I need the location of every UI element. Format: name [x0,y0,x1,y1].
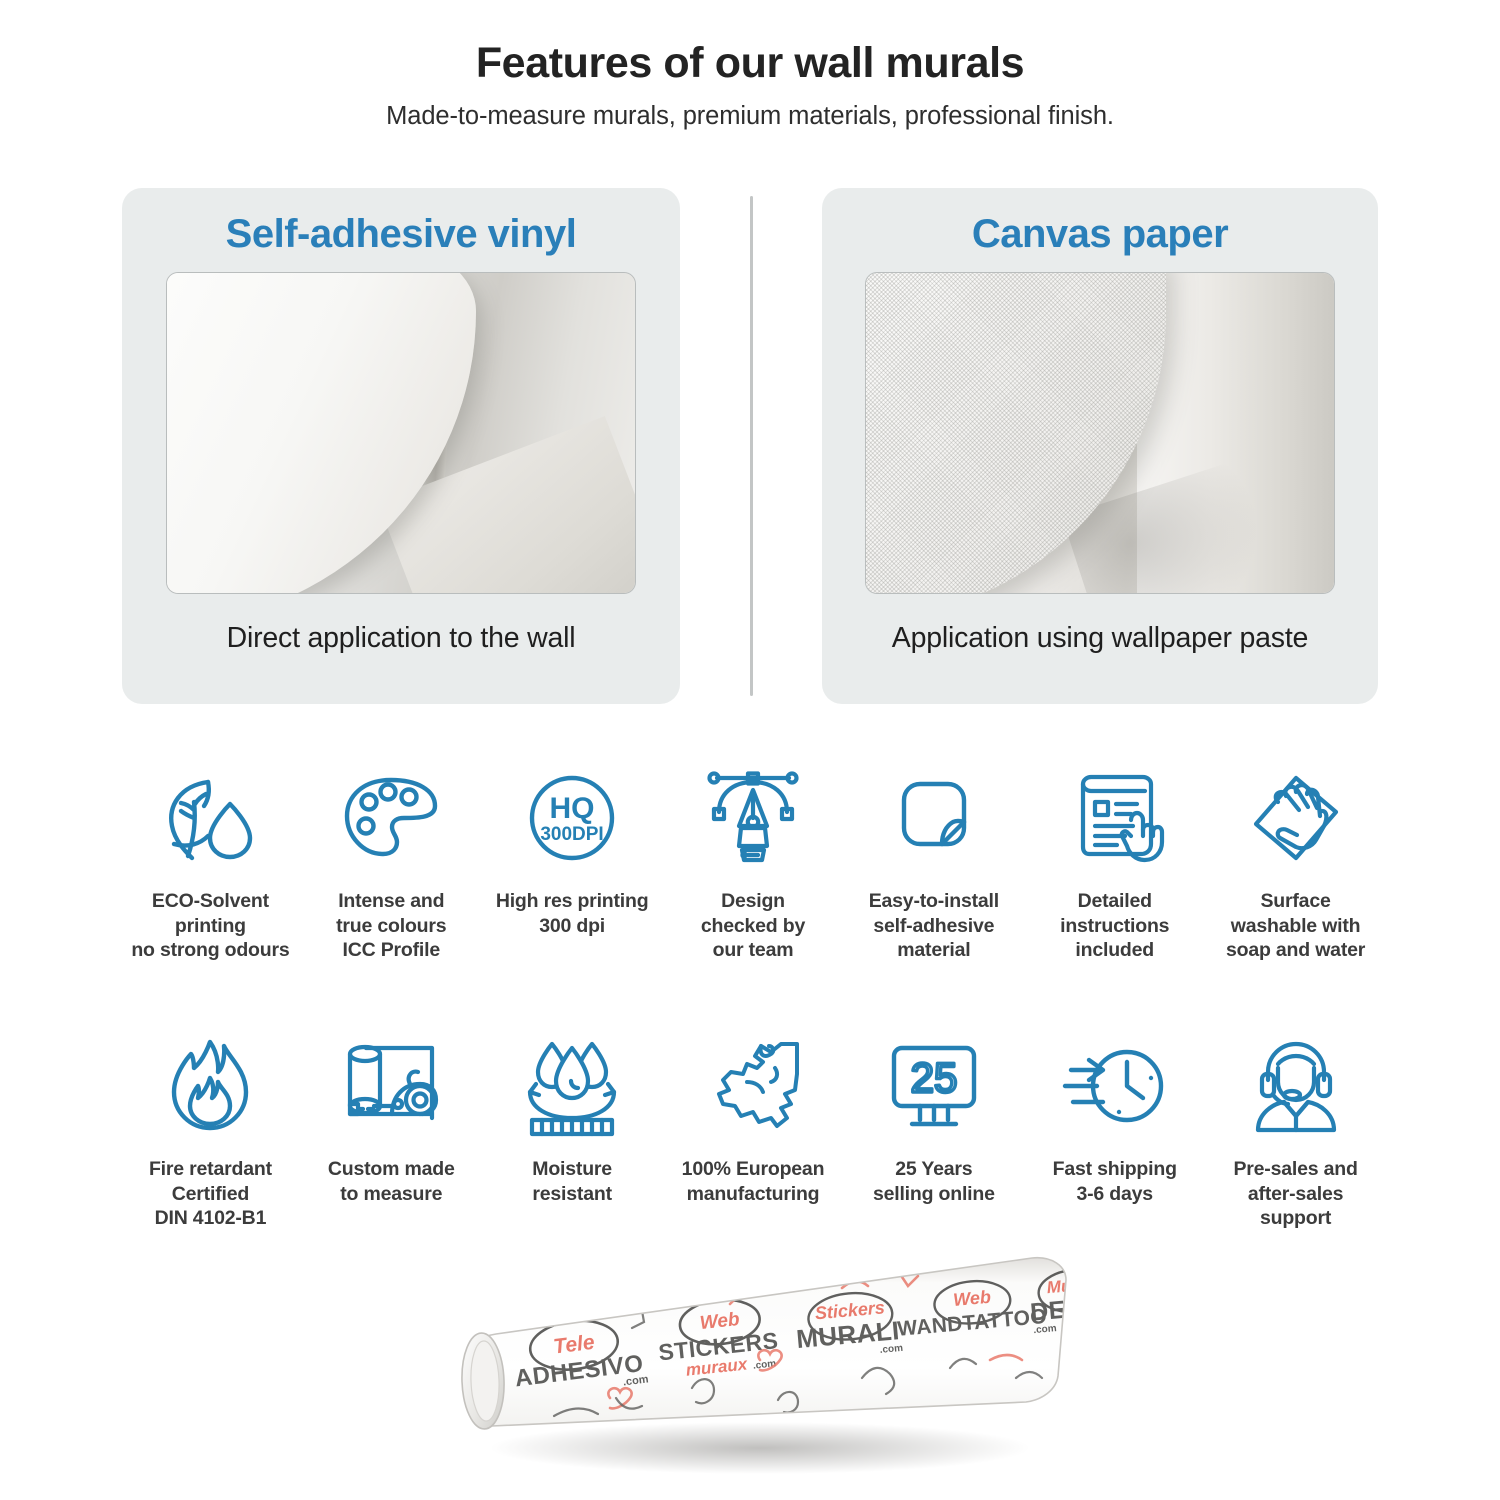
feature-easy-install: Easy-to-install self-adhesive material [843,757,1024,963]
feature-label: 25 Years selling online [873,1157,995,1206]
feature-surface-washable: Surface washable with soap and water [1205,757,1386,963]
card-caption-vinyl: Direct application to the wall [227,620,576,658]
feature-label: Fast shipping 3-6 days [1053,1157,1177,1206]
card-title-canvas: Canvas paper [972,210,1228,258]
feature-label: Easy-to-install self-adhesive material [869,889,999,963]
feature-label: Fire retardant Certified DIN 4102-B1 [149,1157,272,1231]
svg-text:25: 25 [910,1054,957,1101]
product-card-self-adhesive-vinyl[interactable]: Self-adhesive vinyl Direct application t… [122,188,680,704]
feature-european-manufacturing: 100% European manufacturing [663,1025,844,1231]
page-title: Features of our wall murals [0,38,1500,89]
svg-text:300DPI: 300DPI [540,824,603,845]
roll-tape-measure-icon [336,1025,446,1147]
page-subtitle: Made-to-measure murals, premium material… [0,102,1500,131]
feature-grid-row-2: Fire retardant Certified DIN 4102-B1 [120,1025,1386,1231]
feature-fast-shipping: Fast shipping 3-6 days [1024,1025,1205,1231]
fast-clock-icon [1059,1025,1171,1147]
feature-label: Detailed instructions included [1060,889,1169,963]
product-card-canvas-paper[interactable]: Canvas paper Application using wallpaper… [822,188,1378,704]
hand-wiping-cloth-icon [1244,757,1348,879]
instructions-hand-icon [1063,757,1167,879]
vinyl-photo-frame [166,272,636,594]
canvas-photo-frame [865,272,1335,594]
feature-label: Surface washable with soap and water [1226,889,1365,963]
hq-300dpi-badge-icon: HQ 300DPI [520,757,624,879]
feature-label: Moisture resistant [532,1157,612,1206]
feature-eco-solvent: ECO-Solvent printing no strong odours [120,757,301,963]
feature-25-years-online: 25 25 Years selling online [843,1025,1024,1231]
feature-design-checked: Design checked by our team [663,757,844,963]
feature-label: Design checked by our team [701,889,805,963]
feature-support: Pre-sales and after-sales support [1205,1025,1386,1231]
flame-icon [158,1025,262,1147]
leaf-droplet-icon [158,757,262,879]
feature-grid-row-1: ECO-Solvent printing no strong odours In… [120,757,1386,963]
feature-label: High res printing 300 dpi [496,889,649,938]
water-repellent-icon [518,1025,626,1147]
comparison-divider [750,196,753,696]
svg-text:HQ: HQ [550,792,595,825]
feature-fire-retardant: Fire retardant Certified DIN 4102-B1 [120,1025,301,1231]
feature-true-colours: Intense and true colours ICC Profile [301,757,482,963]
comparison-section: Self-adhesive vinyl Direct application t… [122,188,1378,704]
pen-tool-icon [697,757,809,879]
page-header: Features of our wall murals Made-to-meas… [0,38,1500,131]
page-root: Features of our wall murals Made-to-meas… [0,0,1500,1500]
peel-sticker-icon [882,757,986,879]
feature-instructions: Detailed instructions included [1024,757,1205,963]
feature-label: Pre-sales and after-sales support [1233,1157,1357,1231]
shipping-tube-image: Tele ADHESIVO .com Web STICKERS muraux .… [430,1248,1090,1498]
headset-agent-icon [1244,1025,1348,1147]
feature-high-res-printing: HQ 300DPI High res printing 300 dpi [482,757,663,963]
feature-custom-made: Custom made to measure [301,1025,482,1231]
feature-label: Custom made to measure [328,1157,455,1206]
card-caption-canvas: Application using wallpaper paste [892,620,1308,658]
feature-label: ECO-Solvent printing no strong odours [131,889,289,963]
feature-label: 100% European manufacturing [682,1157,825,1206]
card-title-vinyl: Self-adhesive vinyl [226,210,577,258]
feature-label: Intense and true colours ICC Profile [336,889,446,963]
paint-palette-icon [339,757,443,879]
feature-moisture-resistant: Moisture resistant [482,1025,663,1231]
monitor-25-icon: 25 [882,1025,986,1147]
europe-map-icon [701,1025,805,1147]
